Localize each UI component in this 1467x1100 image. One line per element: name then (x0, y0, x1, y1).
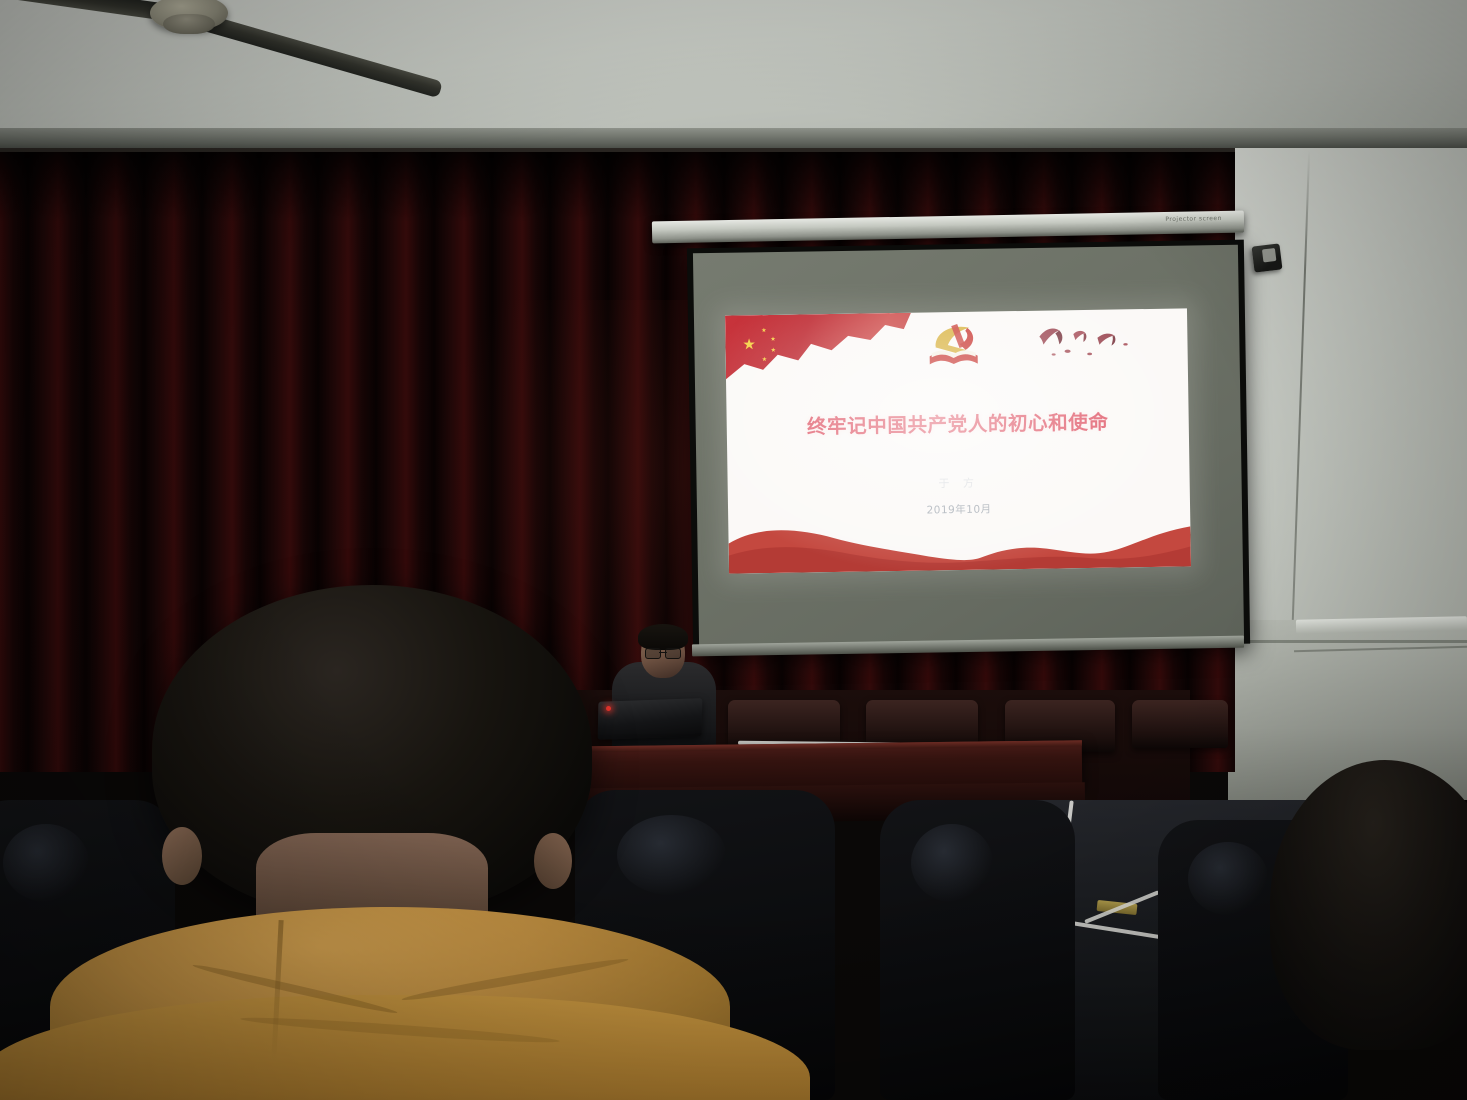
flag-star-small-4: ★ (762, 357, 767, 363)
audience-front-ear-right (534, 833, 572, 889)
flag-star-large: ★ (742, 337, 756, 352)
auditorium-seat-center-right (880, 800, 1075, 1100)
curtain-top-shadow (0, 152, 1235, 222)
fan-hub-inner (163, 14, 215, 34)
screen-case-label: Projector screen (1165, 215, 1222, 223)
ccp-hammer-sickle-emblem-icon (921, 320, 986, 377)
slide-author: 于 方 (728, 471, 1190, 494)
flying-birds-motif-icon (1033, 319, 1144, 369)
projected-slide: ★ ★ ★ ★ ★ 终牢记中国共产党人的初心和使命 于 方 (725, 308, 1191, 573)
wall-speaker-icon (1252, 243, 1283, 272)
audience-right-hair (1270, 760, 1467, 1050)
wall-seam (1232, 640, 1467, 643)
slide-title: 终牢记中国共产党人的初心和使命 (727, 404, 1189, 440)
seat-sheen (911, 824, 993, 902)
seat-sheen (1188, 842, 1268, 915)
audience-person-front (60, 575, 760, 1100)
flag-star-small-1: ★ (761, 328, 766, 334)
flag-star-small-3: ★ (771, 348, 776, 354)
lecture-hall-scene: Projector screen ★ ★ ★ ★ ★ (0, 0, 1467, 1100)
slide-red-hills (728, 506, 1191, 573)
flag-star-small-2: ★ (770, 337, 775, 343)
audience-person-right (1270, 760, 1467, 1100)
audience-front-ear-left (162, 827, 202, 885)
stage-chair-4 (1132, 700, 1228, 748)
